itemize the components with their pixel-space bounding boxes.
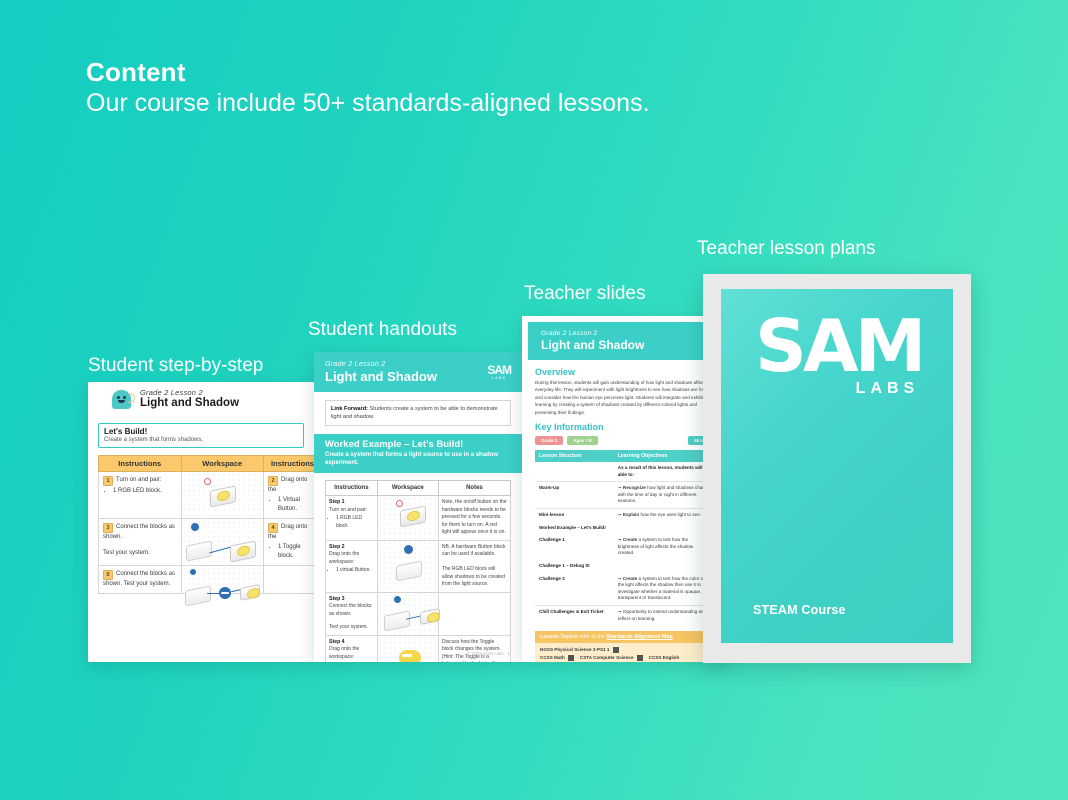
sam-logo-word: SAM	[755, 316, 922, 376]
doc2-r2-workspace	[377, 540, 438, 592]
doc2-step-text: Turn on and pair:	[329, 507, 374, 515]
table-row: Step 1 Turn on and pair: 1 RGB LED block…	[326, 496, 511, 541]
doc3-overview-heading: Overview	[535, 367, 714, 377]
document-teacher-lesson-plans-cover[interactable]: SAM LABS STEAM Course	[703, 274, 971, 663]
doc1-build-title: Let's Build!	[104, 427, 298, 436]
doc1-r2-instructions-2: 4Drag onto the 1 Toggle block.	[264, 519, 315, 566]
doc1-r1-instructions-2: 2Drag onto the 1 Virtual Button.	[264, 472, 315, 519]
doc1-r3-workspace	[181, 566, 264, 594]
slide-canvas: Content Our course include 50+ standards…	[0, 0, 1068, 800]
doc2-step-extra: Test your system.	[329, 624, 374, 632]
doc3-topics-title: Lesson Topics	[540, 634, 577, 640]
doc3-objective-3: ➞ Create a system to test how the bright…	[614, 534, 714, 560]
mascot-icon	[110, 388, 133, 410]
doc3-topic-csta: CSTA Computer Science	[580, 655, 634, 660]
doc2-step-text: Drag onto the workspace:	[329, 551, 374, 566]
table-row: Challenge 1 ➞ Create a system to test ho…	[535, 534, 714, 560]
doc2-r3-notes	[438, 592, 510, 635]
callout-label-student-handouts: Student handouts	[308, 319, 457, 341]
table-row: Warm-Up ➞ Recognize how light and shadow…	[535, 482, 714, 509]
table-row: Chill Challenges & Exit Ticket ➞ Opportu…	[535, 605, 714, 625]
beaker-icon	[613, 647, 619, 653]
doc2-col-notes: Notes	[438, 481, 510, 496]
doc3-objective-5: ➞ Create a system to test how the color …	[614, 573, 714, 606]
doc3-objective-2	[614, 522, 714, 535]
doc2-table-header-row: Instructions Workspace Notes	[326, 481, 511, 496]
doc2-r4-workspace	[377, 635, 438, 662]
table-row: Step 4 Drag onto the workspace: 1 Toggle…	[326, 635, 511, 662]
callout-label-student-step-by-step: Student step-by-step	[88, 355, 263, 377]
doc3-objective-verb: Recognize	[623, 485, 646, 490]
doc3-objective-1: ➞ Explain how the eye uses light to see.	[614, 509, 714, 522]
doc1-step-text: Connect the blocks as shown. Test your s…	[103, 571, 175, 587]
doc3-badges: Grade 2 Ages 7-8 45 min	[535, 436, 714, 445]
doc3-objective-verb: Explain	[623, 512, 639, 517]
doc1-step-bullet: 1 Toggle block.	[278, 543, 314, 561]
cover-inner-panel: SAM LABS STEAM Course	[721, 289, 953, 643]
table-row: 1Turn on and pair: 1 RGB LED block. 2Dra…	[99, 472, 315, 519]
doc3-header: Grade 2 Lesson 2 Light and Shadow	[528, 322, 721, 360]
doc2-header: Grade 2 Lesson 2 Light and Shadow SAM LA…	[314, 352, 522, 392]
doc3-objective-6: ➞ Opportunity to extend understanding an…	[614, 605, 714, 625]
doc1-col-instructions: Instructions	[99, 456, 182, 472]
doc3-col-lesson-structure: Lesson Structure	[535, 450, 614, 462]
doc3-topic-math: CCSS Math	[540, 655, 565, 660]
doc3-topics-note: refer to the	[579, 634, 605, 640]
doc2-r1-instructions: Step 1 Turn on and pair: 1 RGB LED block	[326, 496, 378, 541]
doc3-table-header-row: Lesson Structure Learning Objectives	[535, 450, 714, 462]
doc2-r3-workspace	[377, 592, 438, 635]
doc3-overview-text: During this lesson, students will gain u…	[535, 379, 714, 416]
cover-caption: STEAM Course	[753, 603, 846, 617]
doc2-r3-instructions: Step 3 Connect the blocks as shown. Test…	[326, 592, 378, 635]
doc3-objective-4	[614, 560, 714, 573]
doc2-link-label: Link Forward:	[331, 406, 368, 412]
doc1-step-number: 3	[103, 523, 113, 533]
doc3-table-intro: As a result of this lesson, students wil…	[614, 462, 714, 482]
doc3-grade: Grade 2 Lesson 2	[541, 330, 708, 337]
sam-labs-logo-large: SAM LABS	[755, 316, 922, 398]
table-row: Challenge 1 – Debug It!	[535, 560, 714, 573]
table-row: 3Connect the blocks as shown. Test your …	[99, 519, 315, 566]
doc3-structure-1: Mini-lesson	[535, 509, 614, 522]
doc3-title: Light and Shadow	[541, 338, 708, 352]
doc1-title: Light and Shadow	[140, 397, 239, 410]
doc1-r3-instructions: 5Connect the blocks as shown. Test your …	[99, 566, 182, 594]
doc3-intro-blank	[535, 462, 614, 482]
doc3-objective-text: how the eye uses light to see.	[641, 512, 702, 517]
table-row: Step 2 Drag onto the workspace: 1 virtua…	[326, 540, 511, 592]
doc3-topic-ngss: NGSS Physical Science 2-PS1 1	[540, 647, 609, 652]
doc2-step-bullet: 1 RGB LED block	[336, 515, 374, 530]
doc1-steps-table: Instructions Workspace Instructions 1Tur…	[98, 455, 314, 594]
doc2-steps-table: Instructions Workspace Notes Step 1 Turn…	[325, 480, 511, 662]
sam-logo-word: SAM	[487, 363, 511, 377]
doc2-r4-notes: Discuss how the Toggle block changes the…	[438, 635, 510, 662]
doc2-title: Light and Shadow	[325, 369, 511, 384]
callout-label-teacher-slides: Teacher slides	[524, 283, 645, 305]
doc1-lets-build-box: Let's Build! Create a system that forms …	[98, 423, 304, 448]
doc2-footer: © 2019 SAM Labs 1	[467, 651, 510, 656]
doc2-page-number: 1	[507, 651, 510, 656]
headline-block: Content Our course include 50+ standards…	[86, 57, 650, 120]
doc3-topic-english: CCSS English	[649, 655, 680, 660]
doc1-r2-workspace	[181, 519, 264, 566]
computer-icon	[637, 655, 643, 661]
doc1-table-header-row: Instructions Workspace Instructions	[99, 456, 315, 472]
doc3-structure-3: Challenge 1	[535, 534, 614, 560]
doc2-step-text: Connect the blocks as shown.	[329, 603, 374, 618]
page-subtitle: Our course include 50+ standards-aligned…	[86, 87, 650, 120]
table-row: Mini-lesson ➞ Explain how the eye uses l…	[535, 509, 714, 522]
doc1-r1-instructions: 1Turn on and pair: 1 RGB LED block.	[99, 472, 182, 519]
doc1-build-sub: Create a system that forms shadows.	[104, 437, 298, 443]
doc2-r2-notes: NB. A hardware Button block can be used …	[438, 540, 510, 592]
doc1-step-number: 2	[268, 476, 278, 486]
doc2-copyright: © 2019 SAM Labs	[467, 651, 504, 656]
doc3-objective-0: ➞ Recognize how light and shadows change…	[614, 482, 714, 509]
callout-label-teacher-lesson-plans: Teacher lesson plans	[697, 238, 876, 260]
doc3-structure-4: Challenge 1 – Debug It!	[535, 560, 614, 573]
doc3-structure-6: Chill Challenges & Exit Ticket	[535, 605, 614, 625]
doc1-r1-workspace	[181, 472, 264, 519]
document-student-handouts[interactable]: Grade 2 Lesson 2 Light and Shadow SAM LA…	[314, 352, 522, 662]
doc2-step-label: Step 2	[329, 544, 374, 552]
doc1-header: Grade 2 Lesson 2 Light and Shadow	[88, 382, 314, 415]
doc2-r1-notes: Note, the on/off button on the hardware …	[438, 496, 510, 541]
doc2-link-forward-box: Link Forward: Students create a system t…	[325, 400, 511, 426]
doc1-col-instructions-2: Instructions	[264, 456, 315, 472]
doc1-grade: Grade 2 Lesson 2	[140, 388, 239, 397]
doc1-step-text: Connect the blocks as shown.	[103, 524, 175, 540]
table-row: As a result of this lesson, students wil…	[535, 462, 714, 482]
doc3-key-info-heading: Key Information	[535, 422, 714, 432]
doc2-r2-instructions: Step 2 Drag onto the workspace: 1 virtua…	[326, 540, 378, 592]
doc3-structure-5: Challenge 2	[535, 573, 614, 606]
doc2-worked-example-banner: Worked Example – Let's Build! Create a s…	[314, 434, 522, 473]
doc3-col-learning-objectives: Learning Objectives	[614, 450, 714, 462]
doc2-col-workspace: Workspace	[377, 481, 438, 496]
page-title: Content	[86, 57, 650, 87]
doc1-step-number: 5	[103, 570, 113, 580]
doc3-structure-0: Warm-Up	[535, 482, 614, 509]
doc2-step-label: Step 4	[329, 639, 374, 647]
doc2-step-label: Step 3	[329, 596, 374, 604]
doc1-step-extra: Test your system.	[103, 549, 177, 558]
doc1-col-workspace: Workspace	[181, 456, 264, 472]
doc2-r1-workspace	[377, 496, 438, 541]
doc3-structure-2: Worked Example – Let's Build!	[535, 522, 614, 535]
doc3-objective-text: Opportunity to extend understanding and …	[618, 609, 706, 621]
doc3-topics-link[interactable]: Standards Alignment Map	[606, 634, 672, 640]
doc2-step-label: Step 1	[329, 499, 374, 507]
doc1-step-bullet: 1 Virtual Button.	[278, 496, 314, 514]
table-row: Challenge 2 ➞ Create a system to test ho…	[535, 573, 714, 606]
doc1-step-number: 4	[268, 523, 278, 533]
status-badge-grade: Grade 2	[535, 436, 563, 445]
doc2-worked-sub: Create a system that forms a light sourc…	[325, 451, 511, 467]
doc2-r4-instructions: Step 4 Drag onto the workspace: 1 Toggle…	[326, 635, 378, 662]
doc3-lesson-topics-bar: Lesson Topics refer to the Standards Ali…	[535, 631, 714, 643]
doc1-r3-instructions-2	[264, 566, 315, 594]
doc2-step-text: Drag onto the workspace:	[329, 646, 374, 661]
sam-labs-logo: SAM LABS	[487, 363, 511, 380]
table-row: Worked Example – Let's Build!	[535, 522, 714, 535]
doc1-step-text: Turn on and pair:	[116, 477, 161, 483]
doc3-topics-body: NGSS Physical Science 2-PS1 1 CCSS Math …	[535, 643, 714, 662]
doc2-step-bullet: 1 virtual Button.	[336, 567, 374, 575]
doc1-step-number: 1	[103, 476, 113, 486]
doc2-worked-title: Worked Example – Let's Build!	[325, 439, 511, 450]
doc3-objective-verb: Create	[623, 576, 637, 581]
document-teacher-slides[interactable]: Grade 2 Lesson 2 Light and Shadow Overvi…	[522, 316, 727, 662]
table-row: 5Connect the blocks as shown. Test your …	[99, 566, 315, 594]
doc3-lesson-table: Lesson Structure Learning Objectives As …	[535, 450, 714, 625]
doc3-objective-verb: Create	[623, 537, 637, 542]
doc2-col-instructions: Instructions	[326, 481, 378, 496]
table-row: Step 3 Connect the blocks as shown. Test…	[326, 592, 511, 635]
doc3-body: Overview During this lesson, students wi…	[522, 360, 727, 662]
status-badge-ages: Ages 7-8	[567, 436, 597, 445]
doc1-r2-instructions: 3Connect the blocks as shown. Test your …	[99, 519, 182, 566]
doc2-grade: Grade 2 Lesson 2	[325, 361, 511, 368]
doc1-step-bullet: 1 RGB LED block.	[113, 487, 177, 496]
document-student-step-by-step[interactable]: Grade 2 Lesson 2 Light and Shadow Let's …	[88, 382, 314, 662]
calculator-icon	[568, 655, 574, 661]
